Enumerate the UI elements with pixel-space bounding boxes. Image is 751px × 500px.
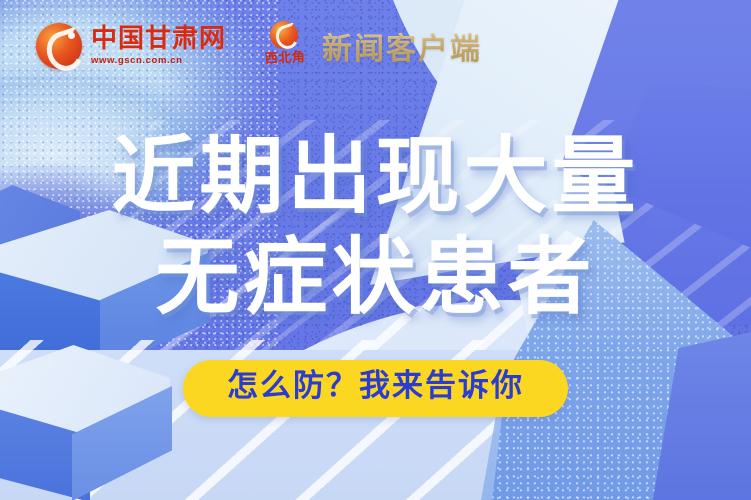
cta-pill-wrapper: 怎么防？我来告诉你 [0,360,751,417]
cta-pill-label: 怎么防？我来告诉你 [227,368,524,404]
poster-root: 中国甘肃网 www.gscn.com.cn 西北角 新闻客户端 近期出现大量 无… [0,0,751,500]
gscn-site-name: 中国甘肃网 [91,26,226,52]
gscn-swirl-mark-icon [36,23,82,69]
gscn-logo[interactable]: 中国甘肃网 www.gscn.com.cn [36,23,226,69]
gscn-logo-text: 中国甘肃网 www.gscn.com.cn [91,26,226,66]
poster-header: 中国甘肃网 www.gscn.com.cn 西北角 新闻客户端 [0,0,751,92]
headline-block: 近期出现大量 无症状患者 [0,132,751,322]
xibeijiao-badge: 西北角 [256,21,314,71]
cta-pill[interactable]: 怎么防？我来告诉你 [183,360,568,417]
xibeijiao-badge-label: 西北角 [256,45,315,67]
gscn-swirl-dot-icon [68,32,75,39]
xibeijiao-swirl-mark-icon [270,21,298,49]
gscn-site-url: www.gscn.com.cn [91,56,226,66]
headline-line-2: 无症状患者 [0,233,751,322]
news-app-name: 新闻客户端 [322,24,482,68]
gscn-swirl-hook-icon [42,26,89,75]
headline-line-1: 近期出现大量 [0,132,751,221]
news-app-logo[interactable]: 西北角 新闻客户端 [256,21,482,71]
